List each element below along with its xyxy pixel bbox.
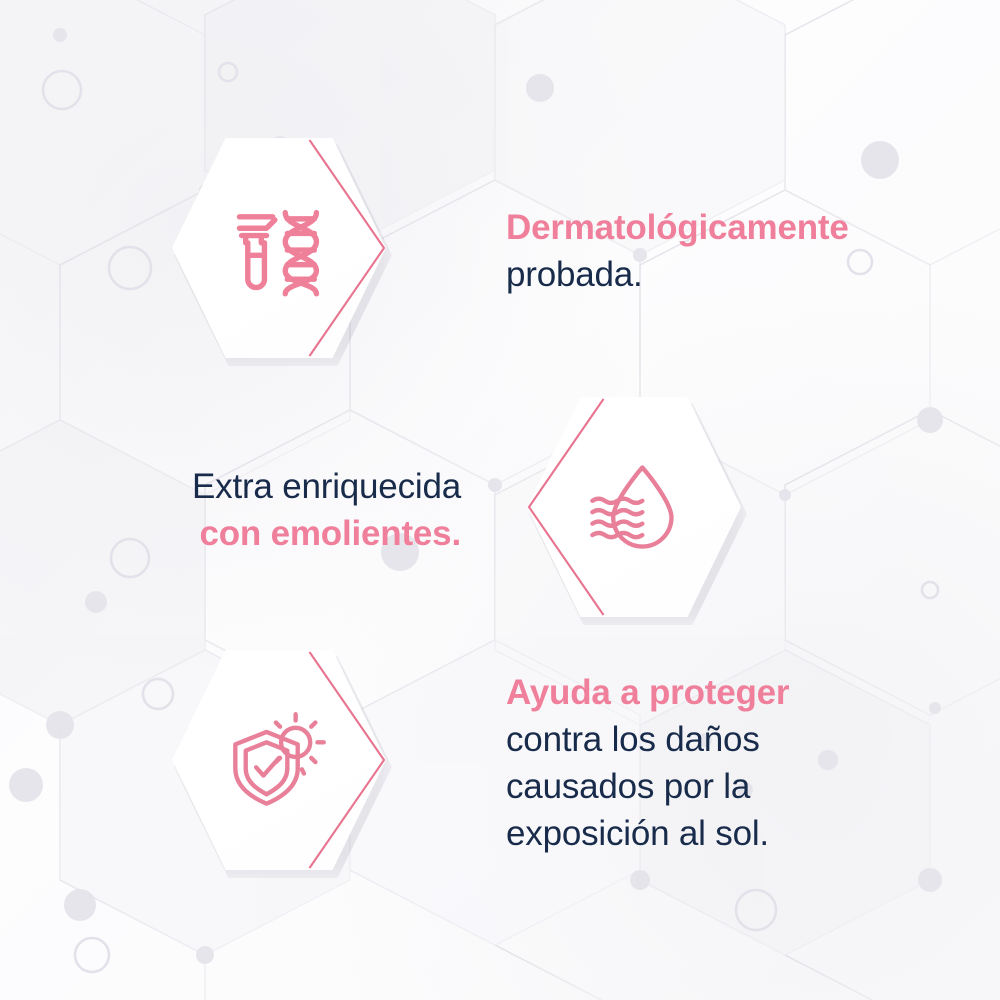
feature-2-line-2: con emolientes.: [192, 511, 461, 558]
test-tube-dna-icon: [227, 196, 331, 300]
feature-text-3: Ayuda a proteger contra los daños causad…: [506, 670, 789, 858]
poster-canvas: Dermatológicamente probada.: [0, 0, 1000, 1000]
feature-3-line-3: causados por la: [506, 764, 789, 811]
hexagon-card-3: [168, 646, 398, 882]
feature-1-line-1: Dermatológicamente: [506, 205, 849, 252]
feature-3-line-1: Ayuda a proteger: [506, 670, 789, 717]
shield-check-sun-icon: [227, 708, 331, 812]
water-drop-waves-icon: [582, 455, 686, 559]
feature-3-line-4: exposición al sol.: [506, 811, 789, 858]
hexagon-card-1: [168, 134, 398, 370]
feature-sun-protection: Ayuda a proteger contra los daños causad…: [168, 646, 789, 882]
feature-enriched-with-emollients: Extra enriquecida con emolientes.: [192, 393, 753, 629]
hexagon-card-2: [523, 393, 753, 629]
feature-3-line-2: contra los daños: [506, 717, 789, 764]
feature-2-line-1: Extra enriquecida: [192, 464, 461, 511]
feature-1-line-2: probada.: [506, 252, 849, 299]
feature-text-2: Extra enriquecida con emolientes.: [192, 464, 461, 558]
feature-dermatologically-tested: Dermatológicamente probada.: [168, 134, 849, 370]
feature-text-1: Dermatológicamente probada.: [506, 205, 849, 299]
